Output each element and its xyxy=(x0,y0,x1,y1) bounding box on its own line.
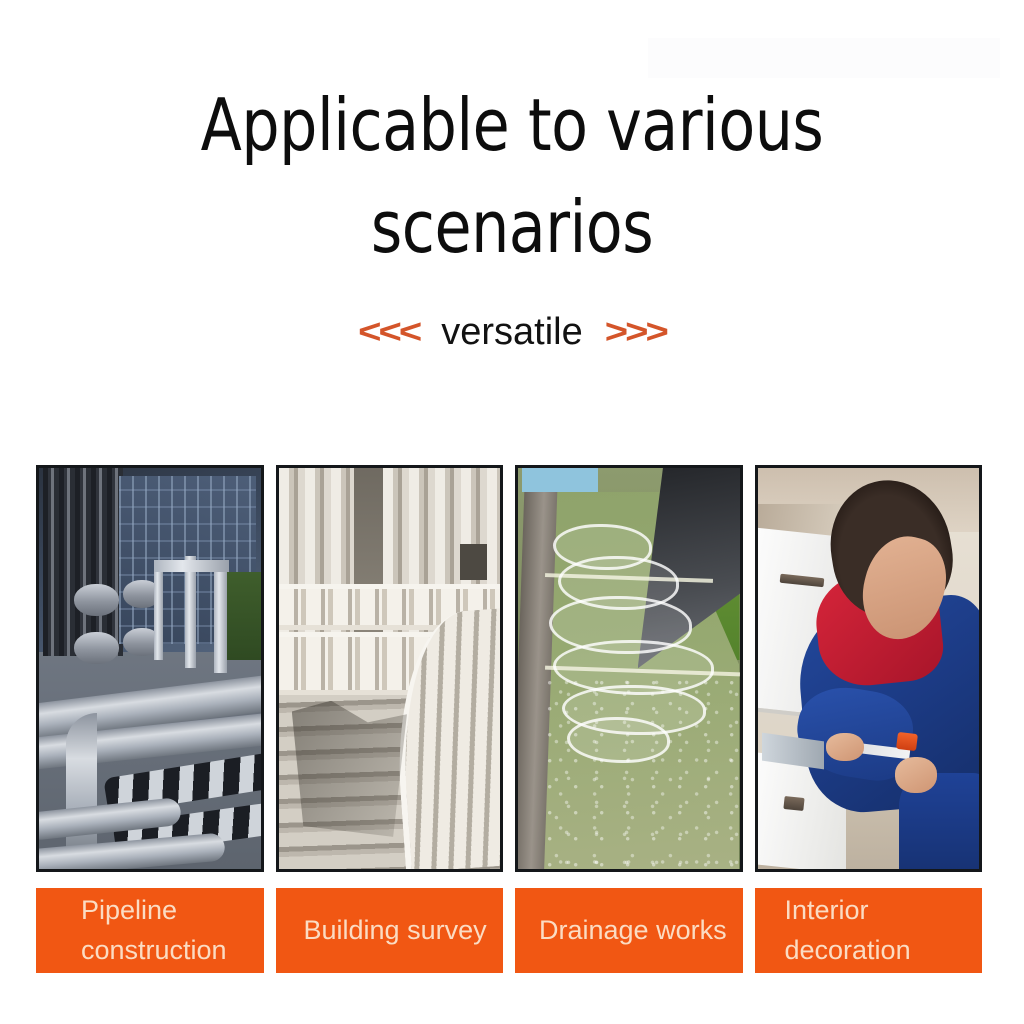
caption-line-2: decoration xyxy=(785,931,975,970)
scenario-card-building[interactable]: Building survey xyxy=(276,465,504,973)
caption-line-1: Building survey xyxy=(304,911,496,950)
subtitle-text: versatile xyxy=(441,313,583,351)
header: Applicable to various scenarios <<< vers… xyxy=(0,0,1024,352)
page-title: Applicable to various scenarios xyxy=(36,0,988,278)
caption-line-1: Pipeline xyxy=(81,891,256,930)
scenario-card-pipeline[interactable]: Pipeline construction xyxy=(36,465,264,973)
scenario-card-drainage[interactable]: Drainage works xyxy=(515,465,743,973)
caption-building-survey: Building survey xyxy=(276,888,504,973)
promo-page: Applicable to various scenarios <<< vers… xyxy=(0,0,1024,1024)
chevron-left-icon: <<< xyxy=(358,315,419,349)
page-title-line-2: scenarios xyxy=(36,176,988,278)
interior-worker-photo xyxy=(755,465,983,872)
caption-drainage-works: Drainage works xyxy=(515,888,743,973)
subtitle-row: <<< versatile >>> xyxy=(0,312,1024,352)
page-title-line-1: Applicable to various xyxy=(36,74,988,176)
caption-line-2: construction xyxy=(81,931,256,970)
scenario-card-grid: Pipeline construction Building sur xyxy=(36,465,982,973)
caption-line-1: Interior xyxy=(785,891,975,930)
chevron-right-icon: >>> xyxy=(605,315,666,349)
industrial-pipeline-photo xyxy=(36,465,264,872)
classical-building-photo xyxy=(276,465,504,872)
scenario-card-interior[interactable]: Interior decoration xyxy=(755,465,983,973)
caption-interior-decoration: Interior decoration xyxy=(755,888,983,973)
drainage-channel-photo xyxy=(515,465,743,872)
caption-line-1: Drainage works xyxy=(539,911,735,950)
caption-pipeline-construction: Pipeline construction xyxy=(36,888,264,973)
